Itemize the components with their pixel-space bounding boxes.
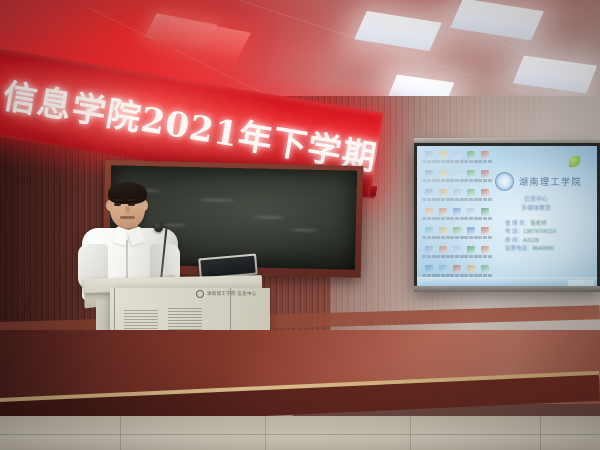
projection-screen: 湖南理工学院 信息中心 多媒体教室 管 理 员：张老师 电 话：13874706…	[414, 143, 600, 290]
desktop-icon[interactable]	[464, 150, 478, 169]
desktop-icon-glyph	[425, 246, 433, 254]
slide-info-row: 电 话：13874706116	[505, 228, 556, 236]
desktop-icon-label	[422, 179, 436, 182]
desktop-icon[interactable]	[478, 150, 492, 169]
slide-contact-info: 管 理 员：张老师 电 话：13874706116 房 间：A3128 监督电话…	[505, 220, 556, 254]
desktop-icon[interactable]	[422, 245, 436, 264]
desktop-icon-label	[450, 236, 464, 239]
desktop-icon[interactable]	[450, 150, 464, 169]
desktop-icon[interactable]	[450, 207, 464, 226]
desktop-icon[interactable]	[422, 226, 436, 245]
info-value: 13874706116	[523, 229, 556, 235]
info-key: 房 间：	[505, 238, 523, 244]
presenter-nose	[125, 206, 130, 213]
desktop-icon[interactable]	[422, 150, 436, 169]
desktop-icon[interactable]	[436, 226, 450, 245]
desktop-icon-label	[436, 236, 450, 239]
desktop-icon-label	[478, 198, 492, 201]
desktop-icon[interactable]	[436, 245, 450, 264]
desktop-icon-label	[436, 179, 450, 182]
desktop-icon-glyph	[467, 265, 475, 273]
desktop-icon[interactable]	[478, 188, 492, 207]
desktop-icon-label	[464, 236, 478, 239]
lecture-hall-photo: 信息学院2021年下学期开学工作会议 湖南理工学院 信息中心 多媒体教室	[0, 0, 600, 450]
desktop-icon[interactable]	[478, 169, 492, 188]
desktop-icon-label	[436, 160, 450, 163]
desktop-icon[interactable]	[478, 226, 492, 245]
tiled-floor	[0, 416, 600, 450]
desktop-icon-glyph	[453, 189, 461, 197]
slide-subtitle-line: 信息中心	[521, 196, 551, 205]
desktop-icon-glyph	[453, 246, 461, 254]
presenter-eye	[114, 203, 121, 206]
desktop-icon-label	[450, 217, 464, 220]
desktop-icon[interactable]	[436, 169, 450, 188]
desktop-icon-glyph	[453, 151, 461, 159]
slide-subtitle-line: 多媒体教室	[521, 205, 551, 214]
desktop-icon-glyph	[467, 151, 475, 159]
desktop-icon-glyph	[481, 170, 489, 178]
desktop-icon-label	[422, 236, 436, 239]
desktop-icon-label	[464, 160, 478, 163]
desktop-icon-label	[478, 255, 492, 258]
desktop-icon-label	[464, 217, 478, 220]
projected-desktop: 湖南理工学院 信息中心 多媒体教室 管 理 员：张老师 电 话：13874706…	[417, 146, 597, 287]
desktop-icon-glyph	[467, 208, 475, 216]
desktop-icon[interactable]	[478, 207, 492, 226]
info-value: A3128	[523, 238, 539, 244]
microphone-icon	[154, 222, 163, 232]
desktop-icon-glyph	[425, 170, 433, 178]
podium-plaque: 湖南理工学院 信息中心	[196, 290, 257, 298]
presenter-brow	[113, 199, 123, 201]
desktop-icon-label	[450, 255, 464, 258]
desktop-icon-glyph	[453, 208, 461, 216]
desktop-icon[interactable]	[450, 226, 464, 245]
desktop-icon[interactable]	[450, 169, 464, 188]
presenter-mouth	[120, 216, 135, 219]
desktop-icon-glyph	[439, 170, 447, 178]
desktop-icon[interactable]	[464, 169, 478, 188]
desktop-icon-label	[464, 198, 478, 201]
desktop-icon[interactable]	[436, 188, 450, 207]
desktop-icon-label	[422, 255, 436, 258]
desktop-icon-glyph	[467, 246, 475, 254]
desktop-icon-label	[478, 217, 492, 220]
desktop-icon-label	[478, 179, 492, 182]
desktop-icon-grid[interactable]	[422, 150, 492, 283]
desktop-icon-glyph	[467, 189, 475, 197]
desktop-icon-label	[450, 160, 464, 163]
desktop-icon-glyph	[481, 227, 489, 235]
desktop-icon-glyph	[439, 265, 447, 273]
info-key: 管 理 员：	[505, 221, 530, 227]
desktop-icon-glyph	[481, 246, 489, 254]
desktop-icon[interactable]	[422, 188, 436, 207]
leaf-decoration-icon	[569, 156, 580, 167]
desktop-icon-glyph	[467, 170, 475, 178]
desktop-icon-label	[436, 217, 450, 220]
desktop-icon-glyph	[453, 265, 461, 273]
desktop-icon[interactable]	[464, 207, 478, 226]
desktop-icon-label	[436, 198, 450, 201]
presenter-eye	[128, 203, 135, 206]
desktop-icon-glyph	[481, 265, 489, 273]
info-value: 8640999	[533, 246, 554, 252]
slide-brand: 湖南理工学院	[495, 172, 582, 191]
slide-info-row: 监督电话：8640999	[505, 245, 556, 253]
slide-subtitle: 信息中心 多媒体教室	[521, 196, 551, 214]
info-value: 张老师	[530, 221, 547, 227]
desktop-icon[interactable]	[464, 245, 478, 264]
desktop-icon-label	[464, 179, 478, 182]
desktop-icon-glyph	[425, 227, 433, 235]
desktop-icon-glyph	[439, 208, 447, 216]
desktop-icon-label	[422, 160, 436, 163]
desktop-icon[interactable]	[422, 207, 436, 226]
desktop-icon-glyph	[481, 208, 489, 216]
slide-info-row: 房 间：A3128	[505, 237, 556, 245]
desktop-icon-glyph	[439, 189, 447, 197]
desktop-icon-glyph	[453, 170, 461, 178]
slide-info-row: 管 理 员：张老师	[505, 220, 556, 228]
desktop-icon-label	[436, 255, 450, 258]
info-key: 监督电话：	[505, 246, 533, 252]
desktop-icon-glyph	[439, 227, 447, 235]
desktop-icon-label	[478, 236, 492, 239]
desktop-icon-label	[450, 198, 464, 201]
university-seal-icon	[495, 172, 514, 191]
desktop-icon[interactable]	[436, 207, 450, 226]
desktop-icon[interactable]	[422, 169, 436, 188]
presenter-brow	[127, 199, 137, 201]
desktop-icon-glyph	[439, 246, 447, 254]
desktop-icon[interactable]	[464, 226, 478, 245]
desktop-icon-glyph	[481, 151, 489, 159]
university-name: 湖南理工学院	[519, 175, 582, 188]
desktop-icon[interactable]	[436, 150, 450, 169]
desktop-icon-glyph	[453, 227, 461, 235]
desktop-icon-glyph	[467, 227, 475, 235]
desktop-icon-glyph	[425, 189, 433, 197]
monitor-screen	[200, 256, 255, 278]
desktop-icon-glyph	[425, 208, 433, 216]
info-key: 电 话：	[505, 229, 523, 235]
desktop-icon[interactable]	[450, 188, 464, 207]
desktop-icon-label	[422, 198, 436, 201]
desktop-icon-glyph	[425, 151, 433, 159]
desktop-icon-label	[464, 255, 478, 258]
desktop-icon-label	[450, 179, 464, 182]
desktop-icon-glyph	[439, 151, 447, 159]
podium-plaque-text: 湖南理工学院 信息中心	[207, 291, 257, 297]
screen-bottom-bar	[414, 286, 600, 292]
desktop-icon[interactable]	[464, 188, 478, 207]
desktop-icon-glyph	[425, 265, 433, 273]
system-tray[interactable]	[568, 280, 594, 286]
university-seal-icon	[196, 290, 204, 298]
desktop-icon-glyph	[481, 189, 489, 197]
desktop-icon-label	[478, 160, 492, 163]
desktop-icon[interactable]	[450, 245, 464, 264]
desktop-icon-label	[422, 217, 436, 220]
desktop-icon[interactable]	[478, 245, 492, 264]
